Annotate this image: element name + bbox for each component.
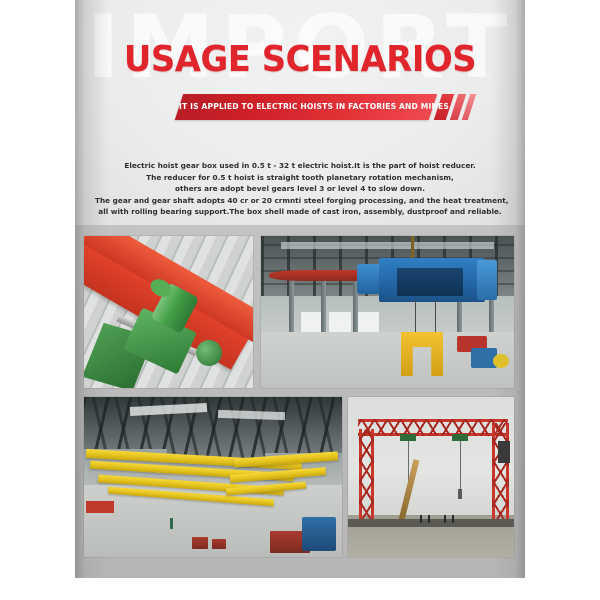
subtitle-text: IT IS APPLIED TO ELECTRIC HOISTS IN FACT… — [179, 94, 433, 120]
lifting-rope — [415, 300, 416, 336]
description-line-4: The gear and gear shaft adopts 40 cr or … — [95, 195, 505, 207]
photo-row-top — [84, 236, 514, 388]
poster-page: IMPORT USAGE SCENARIOS IT IS APPLIED TO … — [0, 0, 600, 600]
photo-blue-hoist-factory — [261, 236, 514, 388]
right-page-margin — [525, 0, 600, 600]
crane-hook — [458, 489, 462, 499]
photo-yellow-overhead-cranes — [84, 397, 342, 557]
bottom-page-margin — [0, 578, 600, 600]
wall-banner — [86, 501, 114, 513]
description-paragraph: Electric hoist gear box used in 0.5 t - … — [75, 160, 525, 218]
stacked-material — [192, 537, 208, 549]
subtitle-banner: IT IS APPLIED TO ELECTRIC HOISTS IN FACT… — [75, 94, 525, 120]
gantry-right-leg — [492, 423, 509, 523]
photo-red-gantry-crane — [348, 397, 514, 557]
description-line-3: others are adopt bevel gears level 3 or … — [95, 183, 505, 195]
blue-truck — [302, 517, 336, 551]
gantry-left-leg — [359, 429, 374, 523]
photo-grid — [84, 236, 514, 557]
control-cabinet — [498, 441, 510, 463]
description-line-1: Electric hoist gear box used in 0.5 t - … — [95, 160, 505, 172]
worker — [428, 515, 430, 523]
lifting-rope — [460, 441, 461, 491]
crane-trolley — [400, 434, 416, 441]
description-line-2: The reducer for 0.5 t hoist is straight … — [95, 172, 505, 184]
hoist-drum — [397, 268, 463, 296]
content-sheet: IMPORT USAGE SCENARIOS IT IS APPLIED TO … — [75, 0, 525, 578]
worker — [452, 515, 454, 523]
header-block: USAGE SCENARIOS IT IS APPLIED TO ELECTRI… — [75, 0, 525, 120]
lifting-rope — [435, 300, 436, 336]
overhead-rope — [411, 236, 414, 260]
left-page-margin — [0, 0, 75, 600]
worker — [170, 518, 173, 529]
photo-hoist-on-red-beam — [84, 236, 253, 388]
stacked-goods — [493, 354, 509, 368]
skylight — [281, 242, 494, 249]
hoist-end-carriage — [477, 260, 497, 300]
worker — [444, 515, 446, 523]
crane-trolley — [452, 434, 468, 441]
travel-wheel — [196, 340, 222, 366]
stacked-material — [212, 539, 226, 549]
photo-row-bottom — [84, 397, 514, 557]
red-girder — [269, 270, 361, 281]
steel-stock-deck — [348, 519, 514, 527]
description-line-5: all with rolling bearing support.The box… — [95, 206, 505, 218]
page-title: USAGE SCENARIOS — [89, 0, 512, 78]
worker — [420, 515, 422, 523]
gantry-main-girder — [358, 419, 508, 436]
